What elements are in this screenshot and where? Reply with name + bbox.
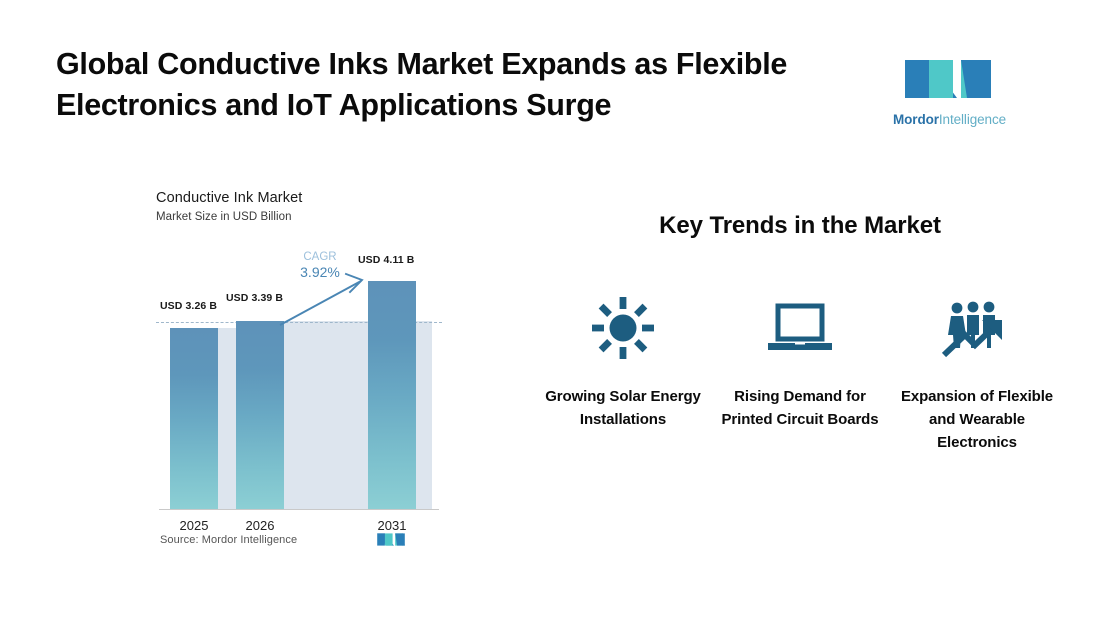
chart-growth-arrow-icon [156,270,442,510]
chart-value-label-2031: USD 4.11 B [358,254,414,266]
chart-source-logo [374,530,408,549]
brand-logo-mark [895,50,1001,108]
page-header: Global Conductive Inks Market Expands as… [0,0,1108,160]
page-title: Global Conductive Inks Market Expands as… [56,44,846,125]
sun-icon [590,295,656,361]
chart-title: Conductive Ink Market [156,190,446,206]
key-trends-title: Key Trends in the Market [540,212,1060,240]
people-growth-icon [940,295,1014,361]
chart-subtitle: Market Size in USD Billion [156,211,446,223]
chart-source-text: Source: Mordor Intelligence [160,534,297,546]
trend-item-flexible[interactable]: Expansion of Flexible and Wearable Elect… [894,290,1060,454]
key-trends-section: Key Trends in the Market Growing Solar E… [540,212,1060,512]
mordor-m-icon [895,50,1001,108]
brand-name-bold: Mordor [893,112,939,127]
brand-logo: MordorIntelligence [893,50,1003,135]
brand-logo-wordmark: MordorIntelligence [893,112,999,127]
brand-name-light: Intelligence [939,112,1006,127]
mordor-m-icon-small [374,530,408,549]
trend-label-solar: Growing Solar Energy Installations [540,386,706,432]
trend-item-pcb[interactable]: Rising Demand for Printed Circuit Boards [717,290,883,454]
trend-icon-wrap-solar [590,290,656,366]
chart-plot-area: USD 3.26 B USD 3.39 B USD 4.11 B CAGR 3.… [156,270,442,510]
trend-icon-wrap-flexible [940,290,1014,366]
chart-source-row: Source: Mordor Intelligence [156,530,442,556]
trend-label-pcb: Rising Demand for Printed Circuit Boards [717,386,883,432]
key-trends-columns: Growing Solar Energy Installations Risin… [540,290,1060,454]
market-size-chart: Conductive Ink Market Market Size in USD… [156,190,446,565]
laptop-icon [765,300,835,356]
chart-x-axis [159,509,439,510]
trend-label-flexible: Expansion of Flexible and Wearable Elect… [894,386,1060,454]
chart-cagr-word: CAGR [288,250,352,264]
trend-icon-wrap-pcb [765,290,835,366]
trend-item-solar[interactable]: Growing Solar Energy Installations [540,290,706,454]
